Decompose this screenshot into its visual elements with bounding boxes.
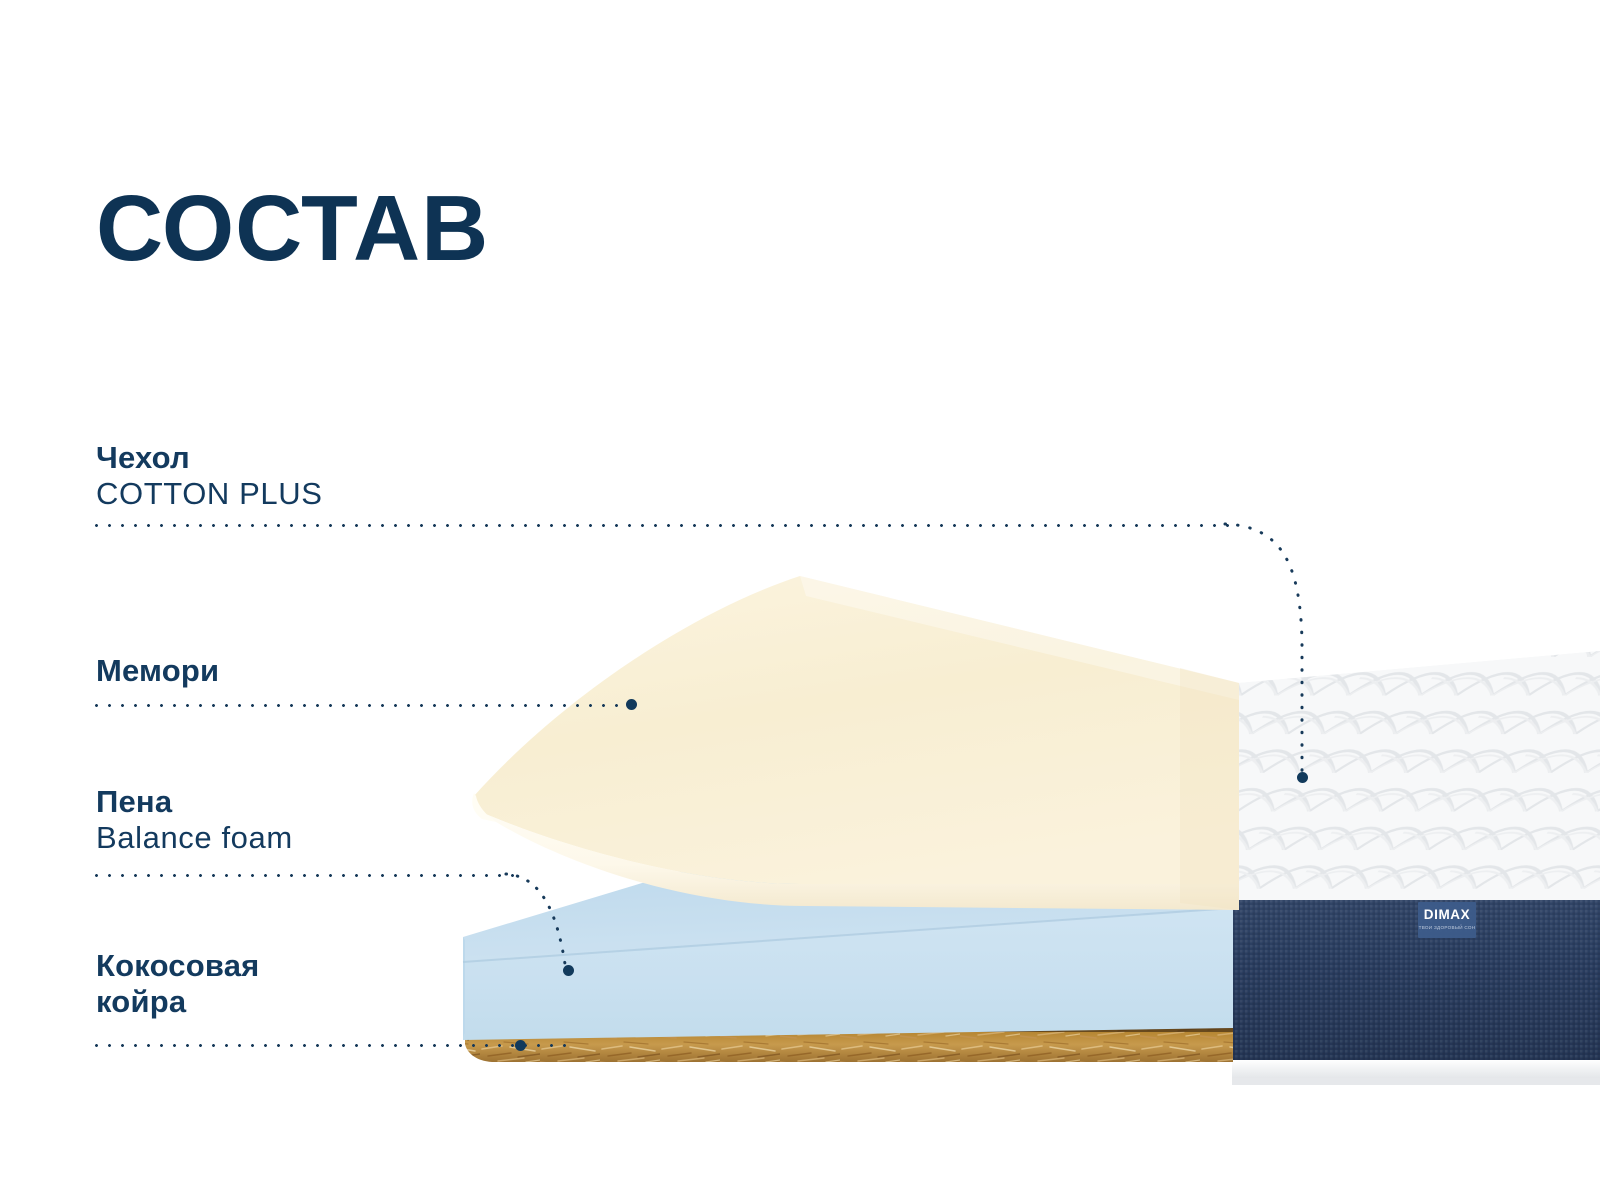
label-memory-title: Мемори — [96, 653, 219, 689]
leader-line-cover — [90, 524, 1230, 527]
leader-dot-coir — [515, 1040, 526, 1051]
dimax-badge-tagline: ТВОИ ЗДОРОВЫЙ СОН — [1419, 923, 1476, 930]
label-foam: Пена Balance foam — [96, 784, 293, 856]
dimax-badge-name: DIMAX — [1424, 907, 1471, 922]
label-cover: Чехол COTTON PLUS — [96, 440, 323, 512]
label-coir: Кокосовая койра — [96, 948, 259, 1020]
leader-dot-memory — [626, 699, 637, 710]
dimax-badge: DIMAX ТВОИ ЗДОРОВЫЙ СОН — [1418, 902, 1476, 938]
label-cover-title: Чехол — [96, 440, 323, 476]
leader-line-memory — [90, 704, 635, 707]
label-coir-subtitle: койра — [96, 984, 259, 1020]
label-memory: Мемори — [96, 653, 219, 689]
label-coir-title: Кокосовая — [96, 948, 259, 984]
slide-canvas: DIMAX ТВОИ ЗДОРОВЫЙ СОН — [0, 0, 1600, 1200]
label-foam-title: Пена — [96, 784, 293, 820]
label-cover-subtitle: COTTON PLUS — [96, 476, 323, 512]
leader-curve-foam — [500, 860, 620, 1000]
leader-curve-cover — [1180, 500, 1380, 800]
label-foam-subtitle: Balance foam — [96, 820, 293, 856]
leader-line-foam — [90, 874, 520, 877]
leader-dot-cover — [1297, 772, 1308, 783]
leader-line-coir — [90, 1044, 568, 1047]
page-title: СОСТАВ — [96, 182, 489, 275]
leader-dot-foam — [563, 965, 574, 976]
